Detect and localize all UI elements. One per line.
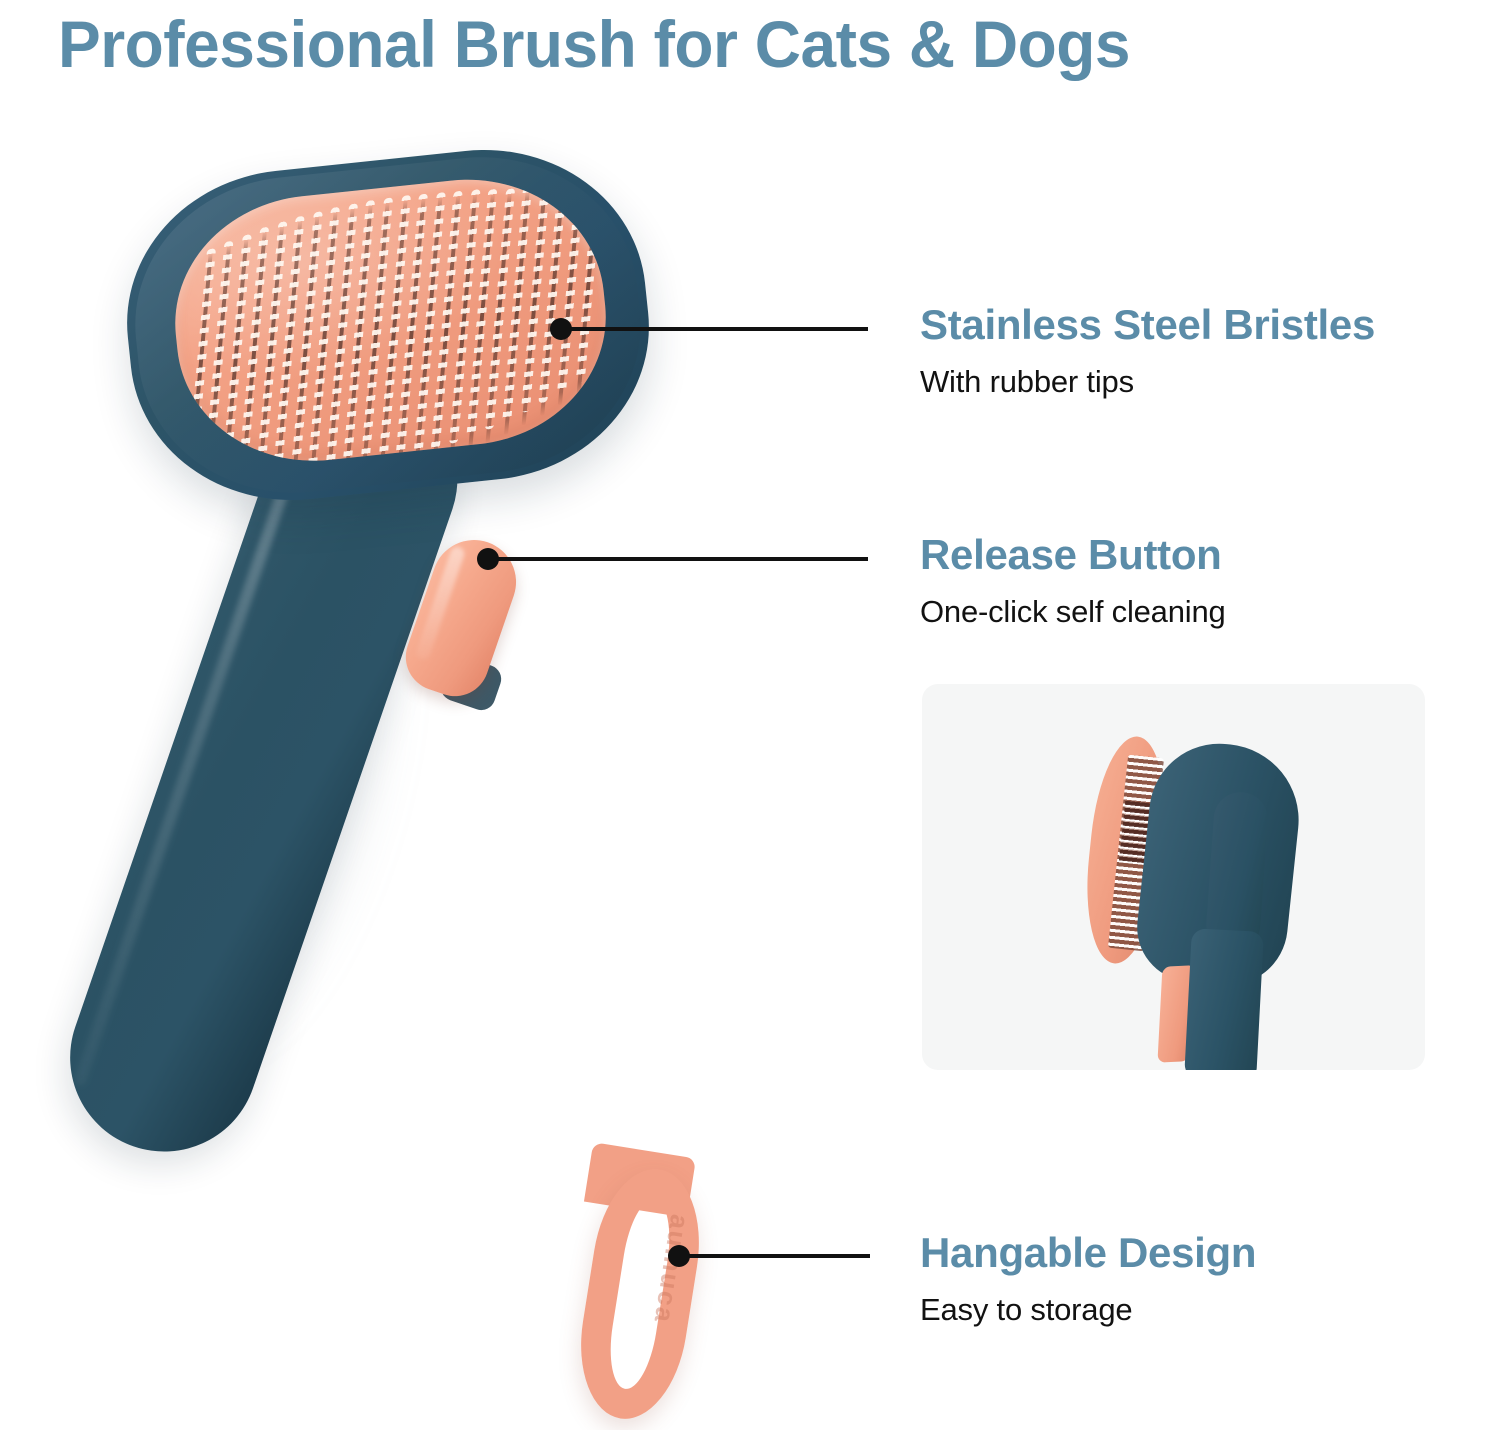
leader-line-release-button bbox=[487, 557, 868, 561]
leader-line-hangable bbox=[678, 1254, 870, 1258]
inset-side-view-illustration bbox=[922, 684, 1425, 1070]
callout-heading: Stainless Steel Bristles bbox=[920, 300, 1375, 350]
callout-stainless-steel-bristles: Stainless Steel Bristles With rubber tip… bbox=[920, 300, 1375, 402]
inset-photo-panel bbox=[922, 684, 1425, 1070]
callout-subtext: With rubber tips bbox=[920, 362, 1375, 402]
callout-heading: Release Button bbox=[920, 530, 1226, 580]
infographic-canvas: Professional Brush for Cats & Dogs aumuc… bbox=[0, 0, 1500, 1430]
callout-heading: Hangable Design bbox=[920, 1228, 1256, 1278]
callout-subtext: One-click self cleaning bbox=[920, 592, 1226, 632]
bristle-pad bbox=[163, 166, 618, 474]
callout-subtext: Easy to storage bbox=[920, 1290, 1256, 1330]
product-illustration: aumuca bbox=[0, 60, 900, 1430]
callout-hangable-design: Hangable Design Easy to storage bbox=[920, 1228, 1256, 1330]
callout-release-button: Release Button One-click self cleaning bbox=[920, 530, 1226, 632]
inset-handle bbox=[1184, 928, 1264, 1070]
bristle-field bbox=[181, 166, 606, 474]
brush-head-shell bbox=[112, 134, 664, 517]
leader-line-bristles bbox=[560, 327, 868, 331]
